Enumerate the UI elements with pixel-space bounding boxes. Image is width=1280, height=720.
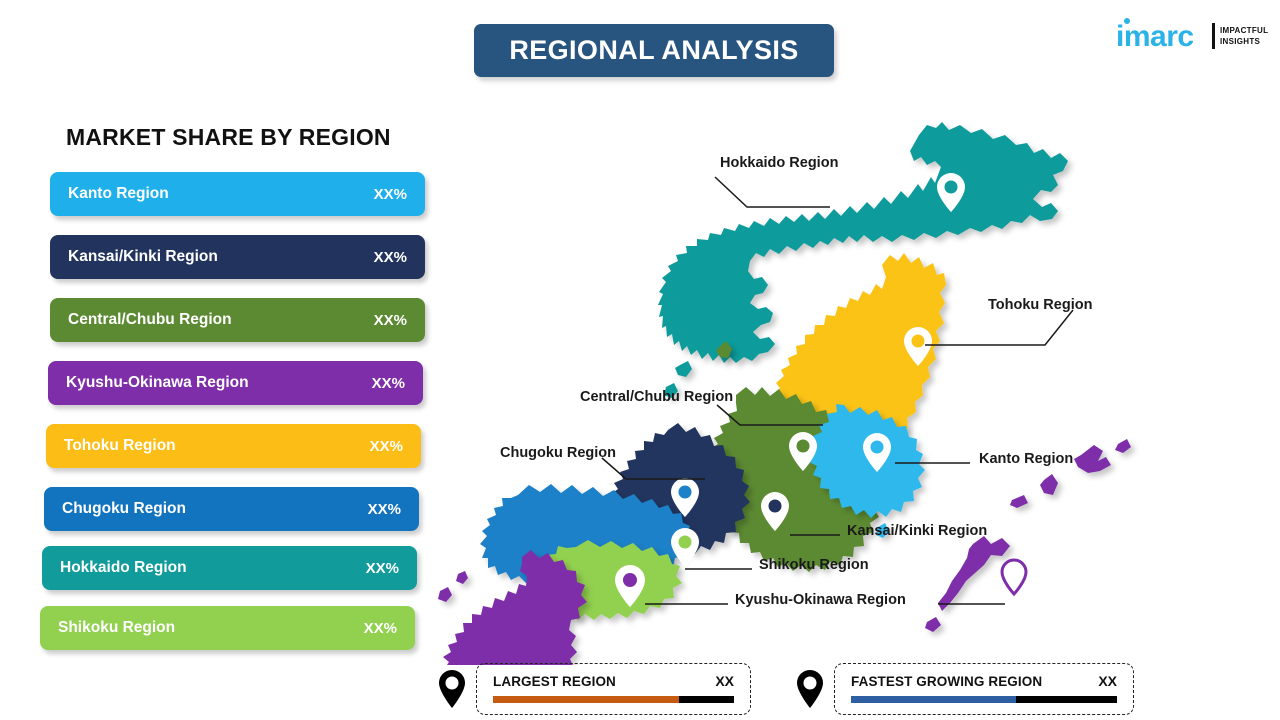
logo-tagline-line2: INSIGHTS [1220,37,1260,46]
market-share-heading: MARKET SHARE BY REGION [66,124,391,151]
map-region-label: Hokkaido Region [720,155,838,171]
region-legend-label: Hokkaido Region [60,559,366,577]
largest-region-kpi[interactable]: LARGEST REGION XX [438,663,751,715]
fastest-growing-region-box: FASTEST GROWING REGION XX [834,663,1134,715]
fastest-growing-region-kpi[interactable]: FASTEST GROWING REGION XX [796,663,1134,715]
region-legend-label: Shikoku Region [58,619,364,637]
map-pin-icon [438,670,466,708]
logo-wordmark: imarc [1116,22,1194,52]
region-legend-value: XX% [374,312,407,329]
largest-region-box: LARGEST REGION XX [476,663,751,715]
region-legend-label: Tohoku Region [64,437,370,455]
region-legend-value: XX% [370,438,403,455]
region-legend-label: Kansai/Kinki Region [68,248,374,266]
region-legend-label: Chugoku Region [62,500,368,518]
fastest-growing-region-progress-track [851,696,1117,703]
map-region-label: Tohoku Region [988,297,1092,313]
map-region-label: Central/Chubu Region [580,389,733,405]
largest-region-label: LARGEST REGION [493,674,616,689]
region-legend-value: XX% [372,375,405,392]
logo-tagline-line1: IMPACTFUL [1220,26,1268,35]
map-region-label: Kyushu-Okinawa Region [735,592,906,608]
region-legend-value: XX% [366,560,399,577]
region-legend-label: Kyushu-Okinawa Region [66,374,372,392]
map-pin-icon [796,670,824,708]
region-legend-bar[interactable]: Kansai/Kinki RegionXX% [50,235,425,279]
region-legend-value: XX% [374,186,407,203]
region-legend-bar[interactable]: Tohoku RegionXX% [46,424,421,468]
region-legend-value: XX% [374,249,407,266]
region-legend-bar[interactable]: Central/Chubu RegionXX% [50,298,425,342]
map-label-layer: Hokkaido RegionTohoku RegionCentral/Chub… [430,95,1150,665]
logo-tagline: IMPACTFUL INSIGHTS [1220,25,1268,47]
region-legend-label: Central/Chubu Region [68,311,374,329]
largest-region-progress-fill [493,696,679,703]
region-legend-bar[interactable]: Kanto RegionXX% [50,172,425,216]
logo-divider [1212,23,1215,49]
map-region-label: Kanto Region [979,451,1073,467]
imarc-logo: imarc IMPACTFUL INSIGHTS [1116,18,1268,58]
region-legend-value: XX% [364,620,397,637]
map-region-label: Chugoku Region [500,445,616,461]
region-legend-bar[interactable]: Kyushu-Okinawa RegionXX% [48,361,423,405]
fastest-growing-region-label: FASTEST GROWING REGION [851,674,1042,689]
region-legend-value: XX% [368,501,401,518]
region-legend-bar[interactable]: Shikoku RegionXX% [40,606,415,650]
region-legend-bar[interactable]: Hokkaido RegionXX% [42,546,417,590]
map-region-label: Shikoku Region [759,557,869,573]
fastest-growing-region-progress-fill [851,696,1016,703]
page-title: REGIONAL ANALYSIS [509,35,798,66]
japan-region-map: Hokkaido RegionTohoku RegionCentral/Chub… [430,95,1150,665]
fastest-growing-region-value: XX [1084,673,1117,689]
region-legend-bar[interactable]: Chugoku RegionXX% [44,487,419,531]
largest-region-progress-track [493,696,734,703]
page-title-banner: REGIONAL ANALYSIS [474,24,834,77]
slide-canvas: REGIONAL ANALYSIS imarc IMPACTFUL INSIGH… [0,0,1280,720]
largest-region-value: XX [701,673,734,689]
map-region-label: Kansai/Kinki Region [847,523,987,539]
region-legend-label: Kanto Region [68,185,374,203]
